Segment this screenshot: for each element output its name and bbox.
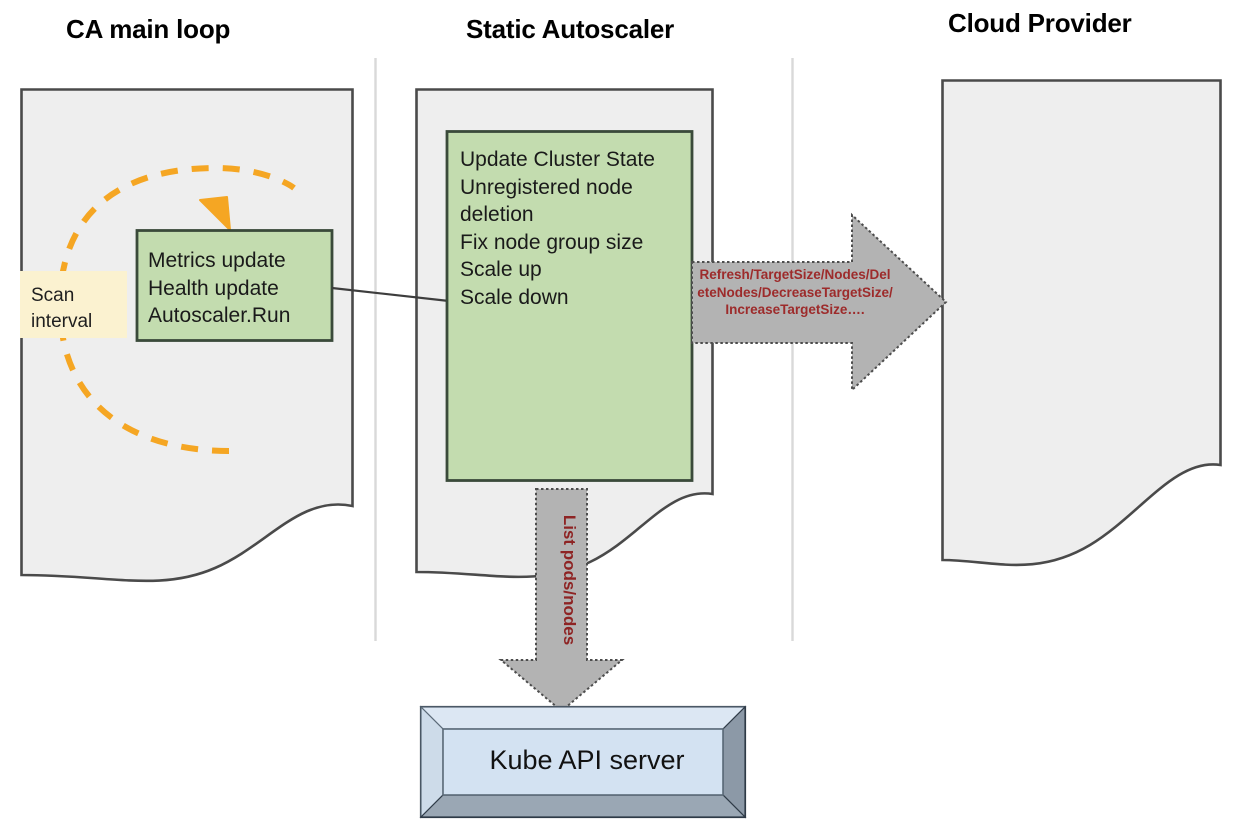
column-title-ca-main-loop: CA main loop [66, 14, 230, 45]
column-title-cloud-provider: Cloud Provider [948, 8, 1132, 39]
document-shape-cloud-provider [943, 81, 1221, 565]
diagram-canvas: CA main loop Static Autoscaler Cloud Pro… [0, 0, 1240, 838]
scan-interval-note-label: Scan interval [31, 283, 135, 335]
column-title-static-autoscaler: Static Autoscaler [466, 14, 674, 45]
diagram-vector-layer [0, 0, 1240, 838]
kube-api-server-label: Kube API server [437, 744, 737, 776]
metrics-update-box-label: Metrics update Health update Autoscaler.… [148, 247, 328, 330]
cloud-provider-arrow-label: Refresh/TargetSize/Nodes/DeleteNodes/Dec… [697, 266, 893, 319]
static-autoscaler-steps-label: Update Cluster State Unregistered node d… [460, 146, 690, 311]
kube-api-arrow-label: List pods/nodes [559, 500, 579, 660]
